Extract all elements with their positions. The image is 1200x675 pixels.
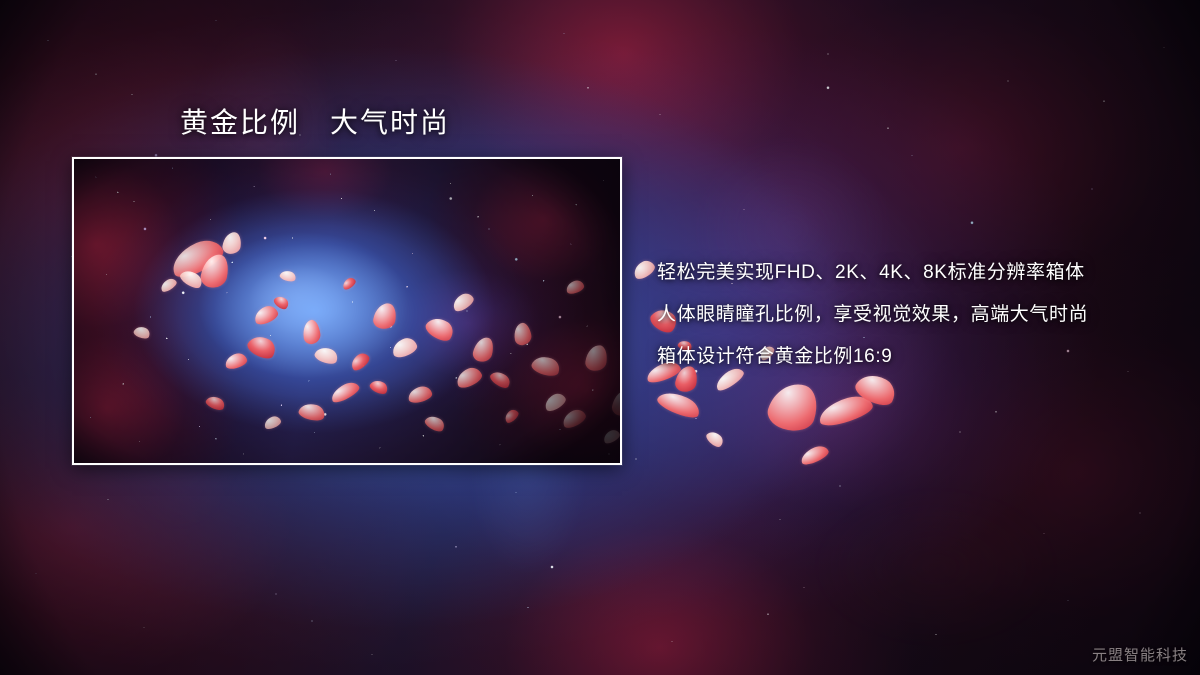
body-line-3: 箱体设计符合黄金比例16:9 <box>657 336 1177 378</box>
page-title: 黄金比例 大气时尚 <box>180 101 450 141</box>
body-line-2: 人体眼睛瞳孔比例，享受视觉效果，高端大气时尚 <box>657 294 1177 336</box>
presentation-slide: 黄金比例 大气时尚 轻松完美实现FHD、2K、4K、8K标准分辨率箱体 人体眼睛… <box>0 0 1200 675</box>
watermark: 元盟智能科技 <box>1092 644 1188 665</box>
photo-vignette <box>74 159 620 463</box>
photo-inner <box>74 159 620 463</box>
body-line-1: 轻松完美实现FHD、2K、4K、8K标准分辨率箱体 <box>657 252 1177 294</box>
galaxy-petals-photo <box>72 157 622 465</box>
body-copy: 轻松完美实现FHD、2K、4K、8K标准分辨率箱体 人体眼睛瞳孔比例，享受视觉效… <box>657 252 1177 378</box>
